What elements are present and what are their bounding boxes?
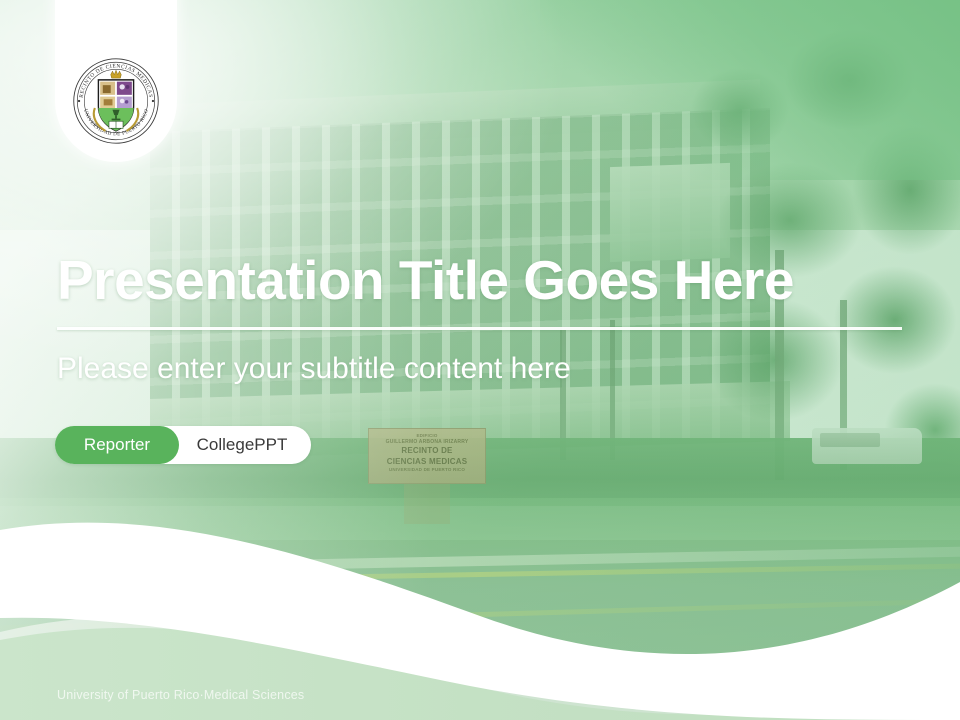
title-divider bbox=[57, 327, 902, 330]
top-right-green-fade bbox=[540, 0, 960, 180]
university-seal-icon: RECINTO DE CIENCIAS MEDICAS UNIVERSIDAD … bbox=[72, 57, 160, 145]
page-subtitle: Please enter your subtitle content here bbox=[57, 352, 571, 386]
bottom-wave-decoration bbox=[0, 490, 960, 720]
reporter-badge[interactable]: Reporter CollegePPT bbox=[55, 426, 311, 464]
reporter-name: CollegePPT bbox=[179, 435, 311, 455]
footer-organization: University of Puerto Rico·Medical Scienc… bbox=[57, 688, 304, 702]
page-title: Presentation Title Goes Here bbox=[57, 248, 794, 312]
reporter-role-pill: Reporter bbox=[55, 426, 179, 464]
presentation-slide: EDIFICIO GUILLERMO ARBONA IRIZARRY RECIN… bbox=[0, 0, 960, 720]
footer-website[interactable]: www.collegeppt.com bbox=[785, 688, 903, 702]
